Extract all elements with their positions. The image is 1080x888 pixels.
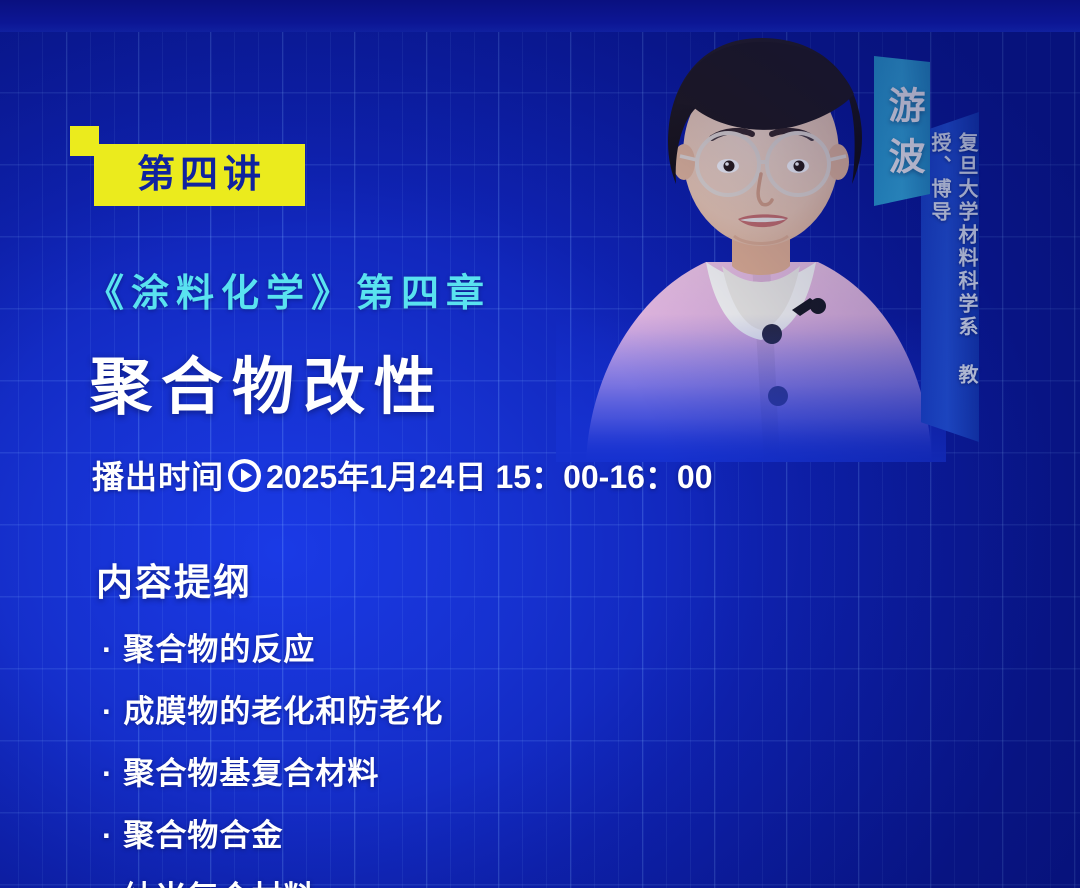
broadcast-time-row: 播出时间 2025年1月24日 15：00-16：00 <box>92 452 713 498</box>
list-item-label: 聚合物的反应 <box>123 624 315 669</box>
list-item-label: 聚合物合金 <box>123 810 283 855</box>
outline-section: 内容提纲 · 聚合物的反应 · 成膜物的老化和防老化 · 聚合物基复合材料 · … <box>96 552 443 888</box>
bullet-dot: · <box>102 634 113 665</box>
badge-label: 第四讲 <box>133 156 266 194</box>
top-band <box>0 0 1080 32</box>
broadcast-time-label: 播出时间 <box>92 452 224 498</box>
lecture-poster: 复旦大学材料科学系 教授、博导 游波 第四讲 《涂料化学》第四章 聚合物改性 播… <box>0 0 1080 888</box>
list-item: · 聚合物基复合材料 <box>96 748 443 793</box>
broadcast-time-value: 2025年1月24日 15：00-16：00 <box>266 452 713 498</box>
list-item-label: 纳米复合材料 <box>123 872 315 888</box>
list-item: · 聚合物的反应 <box>96 624 443 669</box>
course-subtitle: 《涂料化学》第四章 <box>86 262 491 317</box>
play-icon <box>226 457 263 494</box>
bullet-dot: · <box>102 820 113 851</box>
list-item: · 聚合物合金 <box>96 810 443 855</box>
bullet-dot: · <box>102 696 113 727</box>
bullet-dot: · <box>102 882 113 888</box>
outline-list: · 聚合物的反应 · 成膜物的老化和防老化 · 聚合物基复合材料 · 聚合物合金… <box>96 624 443 888</box>
badge-bar: 第四讲 <box>94 144 305 206</box>
list-item: · 纳米复合材料 <box>96 872 443 888</box>
outline-heading: 内容提纲 <box>96 552 443 606</box>
bullet-dot: · <box>102 758 113 789</box>
page-title: 聚合物改性 <box>90 355 445 420</box>
presenter-name: 游波 <box>874 64 930 204</box>
list-item-label: 成膜物的老化和防老化 <box>123 686 443 731</box>
list-item: · 成膜物的老化和防老化 <box>96 686 443 731</box>
list-item-label: 聚合物基复合材料 <box>123 748 379 793</box>
